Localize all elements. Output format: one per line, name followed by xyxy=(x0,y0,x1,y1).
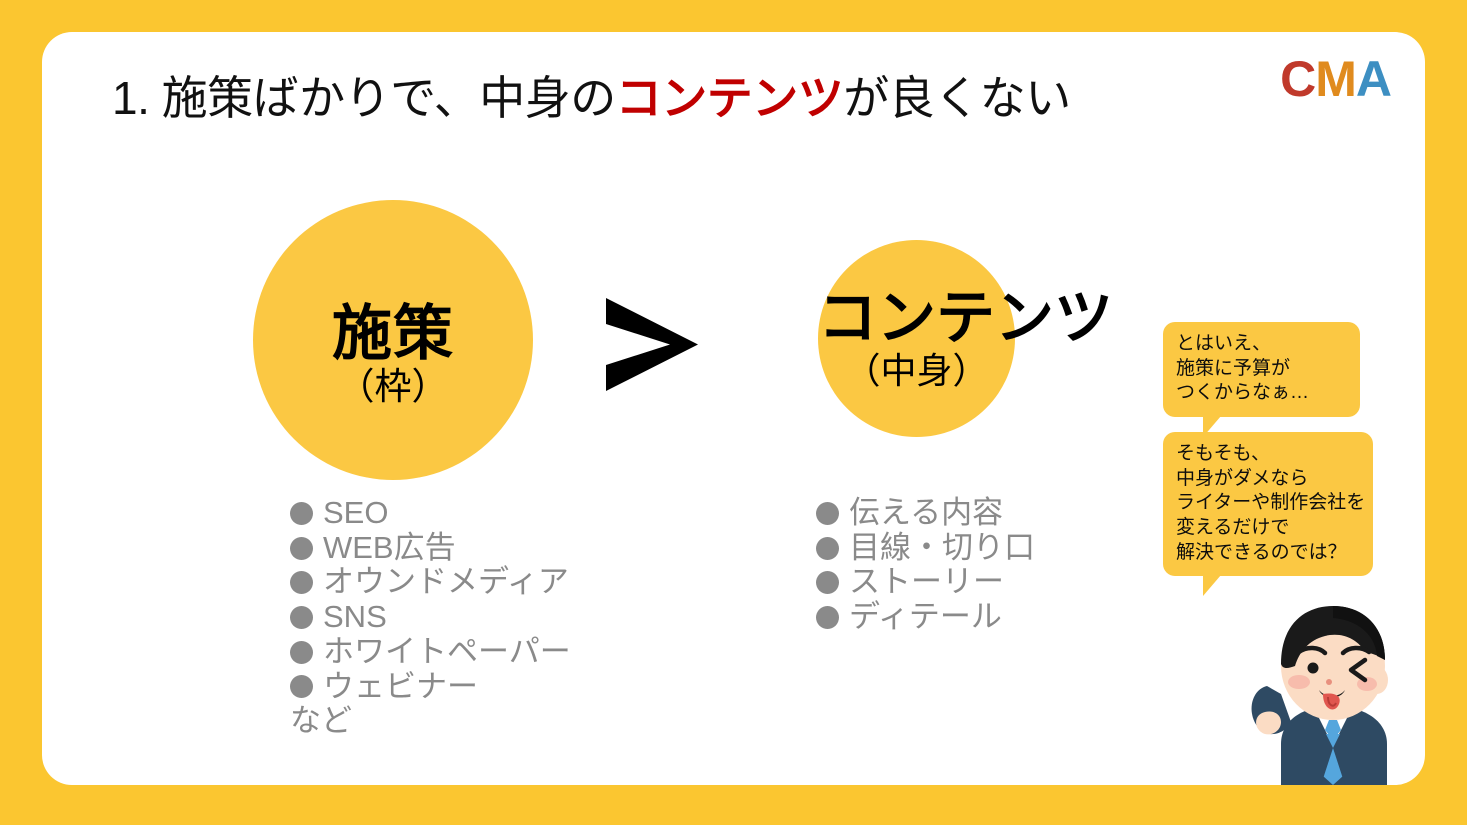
businessman-confused-illustration xyxy=(1237,594,1425,785)
circle-content-label: コンテンツ （中身） xyxy=(818,288,1015,390)
circle-measures-main: 施策 xyxy=(332,300,454,367)
speech-bubble-line: そもそも、 xyxy=(1176,442,1360,467)
greater-than-icon xyxy=(598,292,703,397)
speech-bubble-line: 中身がダメなら xyxy=(1176,467,1360,492)
list-item: オウンドメディア xyxy=(290,565,571,600)
circle-measures-sub: （枠） xyxy=(253,368,533,406)
list-item-label: SNS xyxy=(323,600,387,635)
logo-letter-c: C xyxy=(1280,51,1315,107)
speech-bubble-line: ライターや制作会社を xyxy=(1176,491,1360,516)
list-item-label: WEB広告 xyxy=(323,531,456,566)
bullet-dot-icon xyxy=(290,606,313,629)
list-item: ストーリー xyxy=(816,565,1035,600)
speech-bubble-line: 施策に予算が xyxy=(1176,357,1347,382)
title-text-after: が良くない xyxy=(843,72,1071,124)
content-list: 伝える内容 目線・切り口 ストーリー ディテール xyxy=(816,496,1035,635)
title-highlight: コンテンツ xyxy=(616,72,844,124)
bullet-dot-icon xyxy=(290,537,313,560)
list-item-label: ストーリー xyxy=(849,565,1004,600)
list-item: 伝える内容 xyxy=(816,496,1035,531)
measures-list-trailing: など xyxy=(290,704,571,739)
bullet-dot-icon xyxy=(290,571,313,594)
bullet-dot-icon xyxy=(816,502,839,525)
list-item-label: 目線・切り口 xyxy=(849,531,1035,566)
list-item-label: ウェビナー xyxy=(323,670,478,705)
circle-content: コンテンツ （中身） xyxy=(818,240,1015,437)
bullet-dot-icon xyxy=(816,537,839,560)
list-item-label: ホワイトペーパー xyxy=(323,635,571,670)
list-item: 目線・切り口 xyxy=(816,531,1035,566)
circle-content-main: コンテンツ xyxy=(818,285,1113,351)
list-item-label: ディテール xyxy=(849,600,1002,635)
slide-root: 1. 施策ばかりで、中身のコンテンツが良くない CMA 施策 （枠） コンテンツ… xyxy=(0,0,1467,825)
list-item: SEO xyxy=(290,496,571,531)
list-item: ウェビナー xyxy=(290,670,571,705)
list-item-label: SEO xyxy=(323,496,388,531)
list-item-label: オウンドメディア xyxy=(323,565,569,600)
speech-bubble-line: つくからなぁ… xyxy=(1176,381,1347,406)
page-title: 1. 施策ばかりで、中身のコンテンツが良くない xyxy=(112,62,1071,128)
title-text-before: 施策ばかりで、中身の xyxy=(162,72,616,124)
speech-bubble-line: とはいえ、 xyxy=(1176,332,1347,357)
bullet-dot-icon xyxy=(290,502,313,525)
title-number: 1. xyxy=(112,72,149,124)
bullet-dot-icon xyxy=(816,606,839,629)
circle-content-sub: （中身） xyxy=(818,353,1015,390)
slide-panel: 1. 施策ばかりで、中身のコンテンツが良くない CMA 施策 （枠） コンテンツ… xyxy=(42,32,1425,785)
bullet-dot-icon xyxy=(816,571,839,594)
list-item-label: 伝える内容 xyxy=(849,496,1003,531)
logo-letter-m: M xyxy=(1315,51,1356,107)
bullet-dot-icon xyxy=(290,641,313,664)
list-item: ディテール xyxy=(816,600,1035,635)
speech-bubble-line: 解決できるのでは？ xyxy=(1176,541,1360,566)
logo-letter-a: A xyxy=(1356,51,1391,107)
circle-measures-label: 施策 （枠） xyxy=(253,303,533,406)
speech-bubble-budget: とはいえ、 施策に予算が つくからなぁ… xyxy=(1163,322,1360,417)
list-item: WEB広告 xyxy=(290,531,571,566)
list-item: ホワイトペーパー xyxy=(290,635,571,670)
measures-list: SEO WEB広告 オウンドメディア SNS ホワイトペーパー ウェビナー xyxy=(290,496,571,739)
speech-bubble-solution: そもそも、 中身がダメなら ライターや制作会社を 変えるだけで 解決できるのでは… xyxy=(1163,432,1373,576)
measures-list-trailing-label: など xyxy=(290,704,352,739)
cma-logo: CMA xyxy=(1280,54,1391,104)
speech-bubble-tail-icon xyxy=(1203,575,1221,596)
list-item: SNS xyxy=(290,600,571,635)
circle-measures: 施策 （枠） xyxy=(253,200,533,480)
speech-bubble-line: 変えるだけで xyxy=(1176,516,1360,541)
bullet-dot-icon xyxy=(290,675,313,698)
